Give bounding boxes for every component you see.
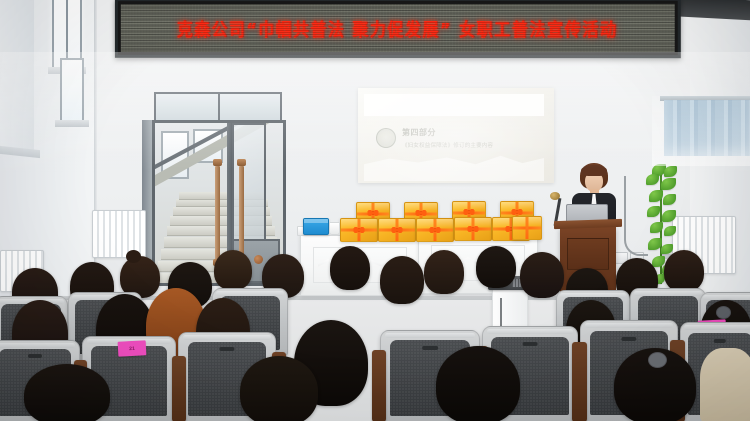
seat-lip	[385, 333, 475, 338]
window-sill	[55, 120, 89, 127]
door-pull-handle[interactable]	[239, 165, 244, 261]
audience-head	[380, 256, 424, 304]
audience-hair-bun	[126, 250, 141, 263]
door-knob-icon[interactable]	[254, 255, 263, 264]
conference-hall-photo: 克森公司“巾帼共普法 聚力促发展” 女职工普法宣传活动 第四部分 《妇女权益保障…	[0, 0, 750, 421]
seat-slot	[28, 354, 42, 358]
gift-box	[378, 218, 416, 242]
led-banner-display: 克森公司“巾帼共普法 聚力促发展” 女职工普法宣传活动	[115, 0, 681, 58]
seat-lip	[585, 323, 673, 328]
plant-leaf	[663, 194, 676, 205]
gift-box	[512, 216, 542, 240]
gift-box	[340, 218, 378, 242]
gift-box	[416, 218, 454, 242]
box-bow	[354, 226, 365, 234]
audience-head	[330, 246, 370, 290]
audience-head	[436, 346, 520, 421]
audience-torso-beige	[700, 348, 750, 421]
seat-slot	[621, 337, 636, 341]
blue-box	[303, 218, 329, 235]
audience-head	[24, 364, 110, 421]
seat-lip	[0, 343, 75, 348]
plant-leaf	[661, 244, 673, 254]
seat-slot	[522, 342, 537, 346]
gift-box	[454, 217, 492, 241]
hair-tie	[716, 306, 731, 319]
led-panel: 克森公司“巾帼共普法 聚力促发展” 女职工普法宣传活动	[121, 4, 675, 52]
paper-cup	[329, 222, 340, 235]
box-bow	[392, 226, 403, 234]
box-bow	[430, 226, 441, 234]
speaker-fringe	[581, 165, 607, 176]
audience-head	[520, 252, 564, 298]
seat-lip	[487, 329, 574, 334]
audience-head	[214, 250, 252, 290]
transom-mullion	[218, 94, 220, 122]
plant-leaf	[647, 206, 660, 217]
seat-armrest	[172, 356, 186, 421]
box-ribbon-vertical	[526, 217, 529, 239]
wall-pilaster	[0, 0, 34, 150]
seat-lip	[183, 335, 271, 340]
box-bow	[512, 208, 523, 216]
audience-head	[424, 250, 464, 294]
box-bow	[368, 209, 379, 217]
seat-armrest	[572, 342, 587, 421]
plant-leaf	[646, 174, 659, 185]
plant-leaf	[664, 226, 676, 236]
slide-section-subtitle: 《妇女权益保障法》修订的主要内容	[402, 141, 493, 149]
slide-section-title: 第四部分	[402, 127, 436, 138]
slide-top-band	[364, 94, 544, 116]
audience-head	[240, 356, 318, 421]
slide-bottom-graphic	[364, 153, 544, 181]
seat-number-tag: 21	[118, 340, 147, 356]
seat-slot	[219, 347, 234, 351]
tall-window-second	[60, 58, 84, 122]
door-pull-handle[interactable]	[215, 165, 220, 261]
podium-front-panel	[567, 238, 609, 270]
seat-slot	[422, 346, 438, 350]
plant-leaf	[662, 210, 676, 222]
door-sidelite-glass	[232, 123, 266, 245]
box-bow	[464, 208, 475, 216]
seat-armrest	[372, 350, 386, 421]
stairwell-door-unit[interactable]	[152, 92, 280, 280]
microphone-head-icon	[550, 192, 560, 200]
seat-slot	[714, 339, 726, 343]
door-handle-bracket	[213, 159, 222, 166]
door-handle-bracket	[237, 159, 246, 166]
hair-tie	[648, 352, 667, 368]
seat-lip	[684, 325, 750, 330]
box-bow	[468, 225, 479, 233]
box-bow	[416, 209, 427, 217]
audience-head	[664, 250, 704, 292]
audience-head	[476, 246, 516, 288]
plant-leaf	[664, 166, 677, 177]
projection-screen: 第四部分 《妇女权益保障法》修订的主要内容	[358, 88, 554, 183]
slide-emblem-icon	[376, 128, 396, 148]
plant-leaf	[661, 178, 676, 190]
led-banner-text: 克森公司“巾帼共普法 聚力促发展” 女职工普法宣传活动	[177, 14, 618, 41]
window-curtain[interactable]	[664, 100, 750, 156]
box-lid-highlight	[304, 219, 328, 223]
